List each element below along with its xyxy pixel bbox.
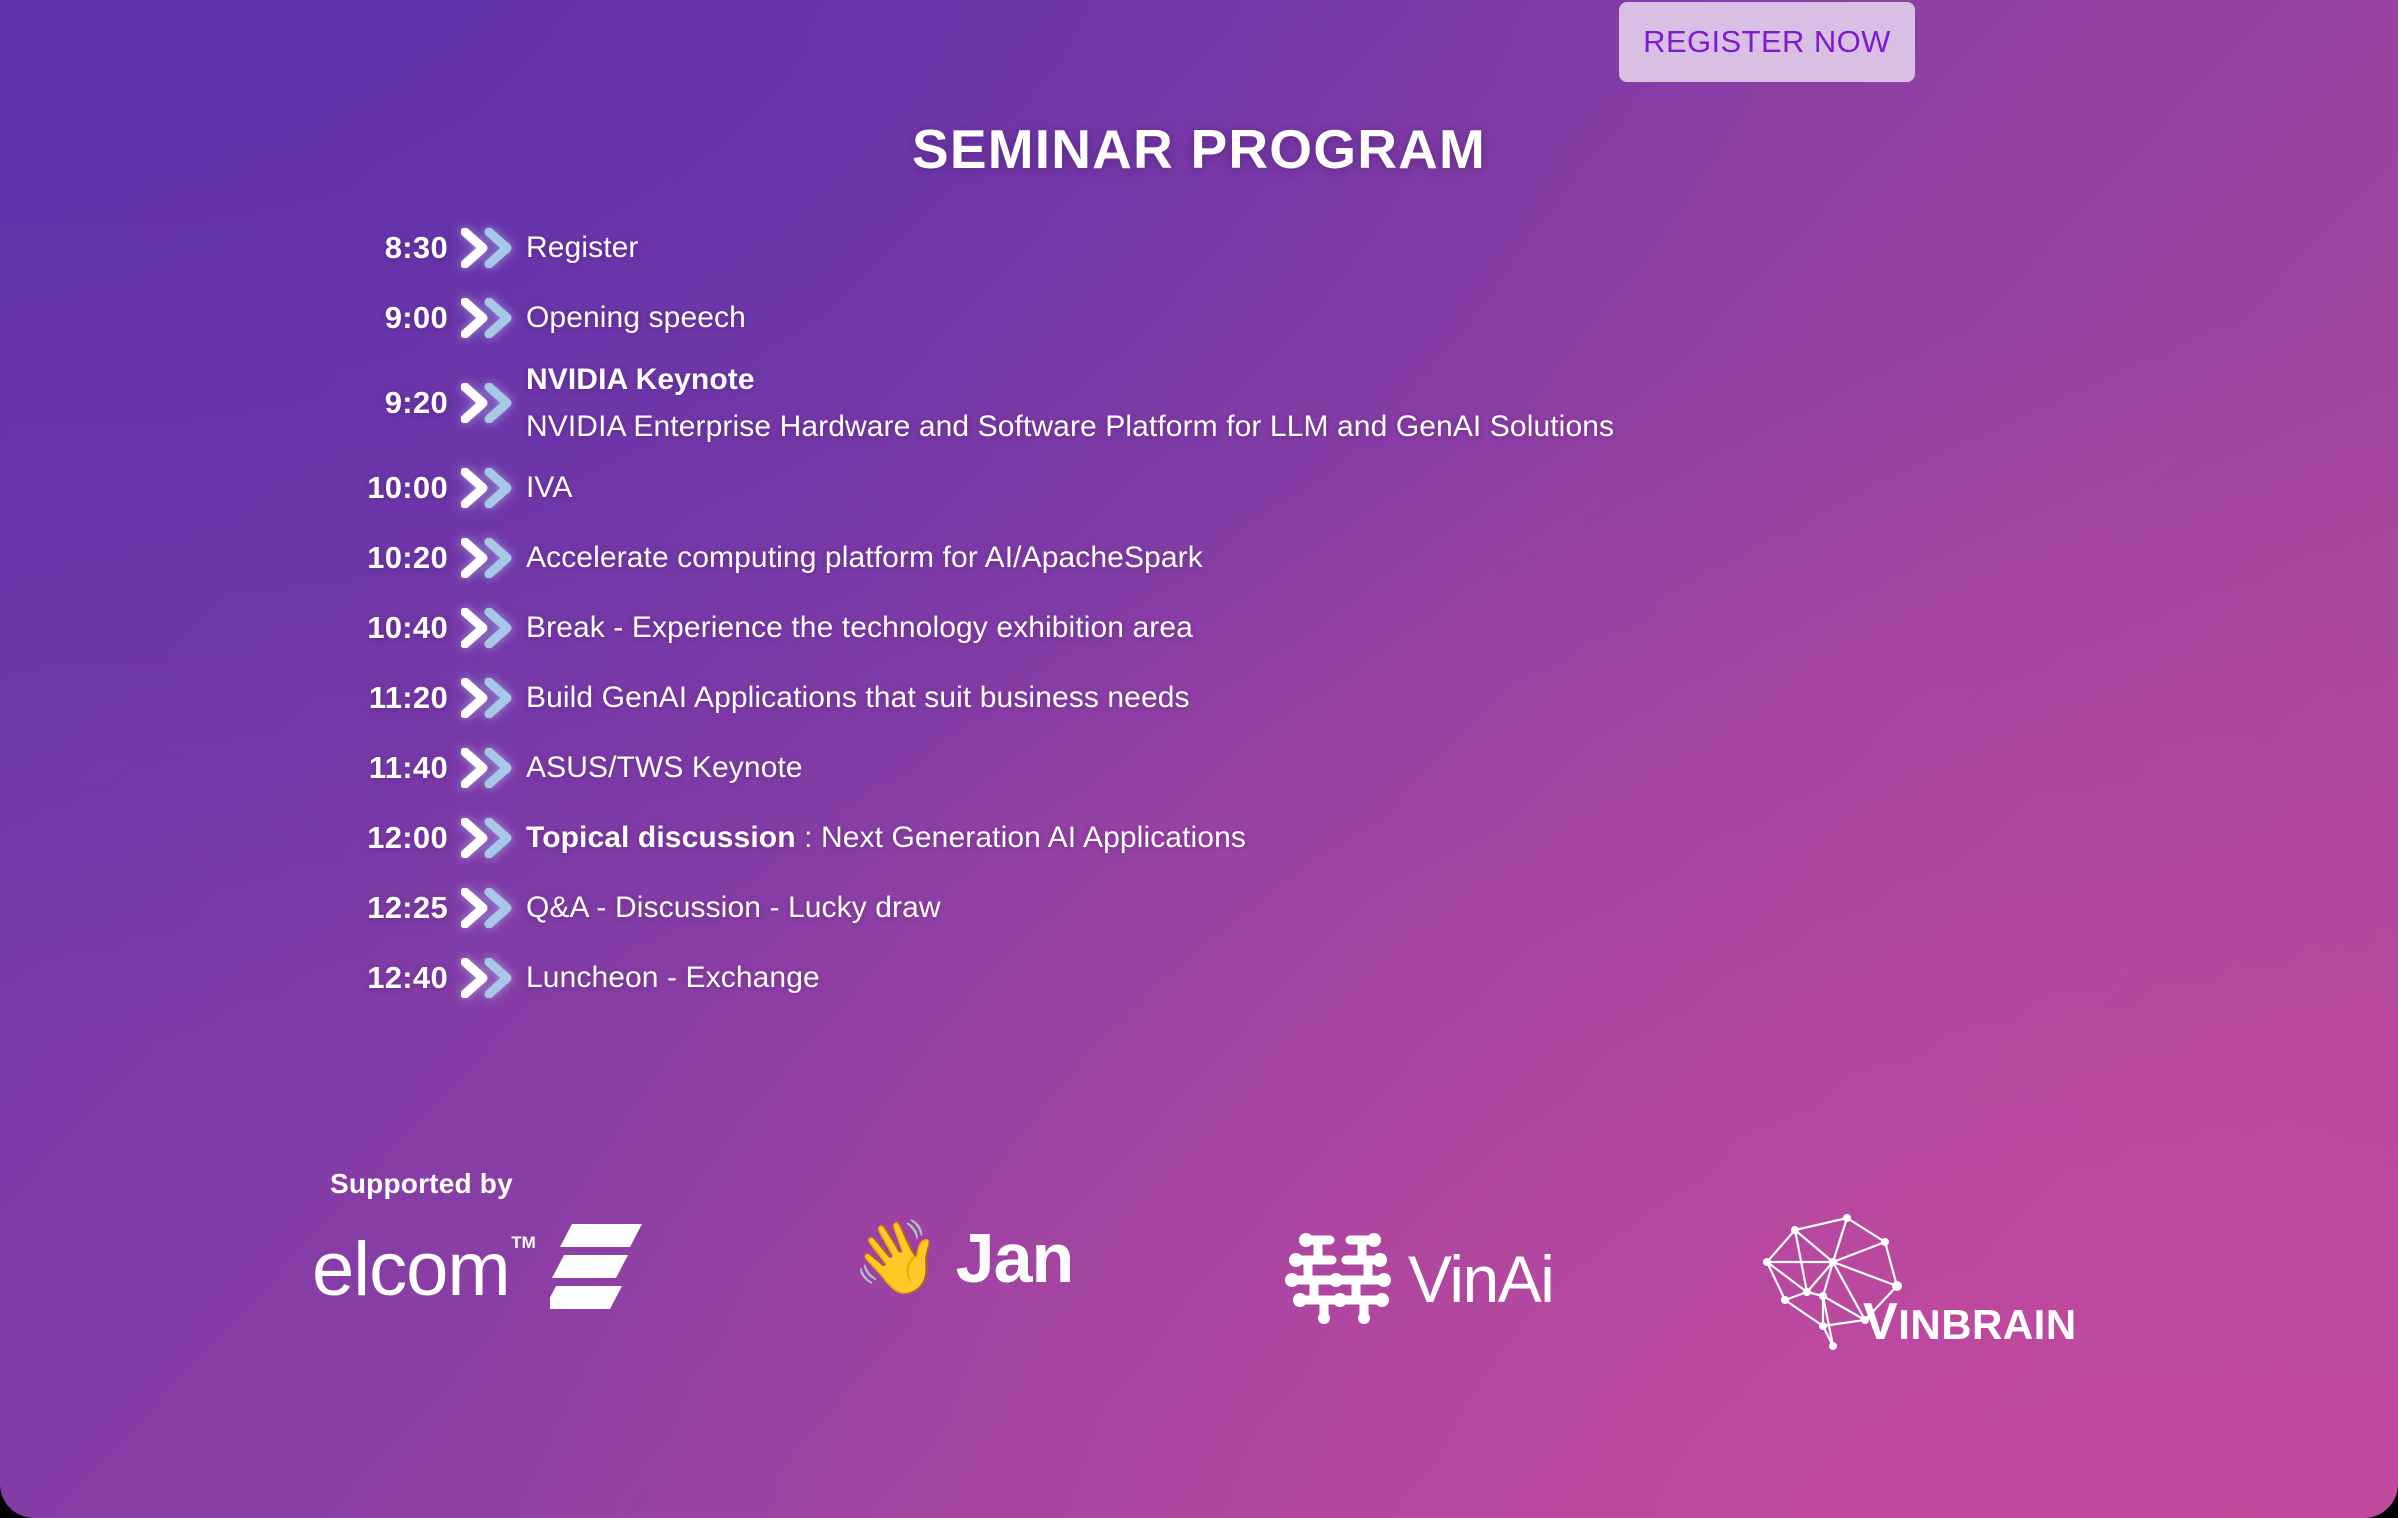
schedule-title: Luncheon - Exchange (526, 961, 820, 994)
logo-jan: 👋 Jan (852, 1222, 1073, 1294)
schedule-description: NVIDIA KeynoteNVIDIA Enterprise Hardware… (526, 360, 1614, 447)
schedule-title: IVA (526, 471, 572, 504)
schedule-title: Opening speech (526, 301, 746, 334)
schedule-row: 10:40 Break - Experience the technology … (330, 593, 2030, 663)
page-title: SEMINAR PROGRAM (0, 117, 2398, 181)
schedule-title: Q&A - Discussion - Lucky draw (526, 891, 941, 924)
double-chevron-icon (448, 538, 526, 578)
elcom-e-mark-icon (550, 1224, 642, 1315)
schedule-subtitle: NVIDIA Enterprise Hardware and Software … (526, 407, 1614, 447)
sponsor-logos: elcom TM 👋 Jan (312, 1216, 2112, 1356)
schedule-row: 12:25 Q&A - Discussion - Lucky draw (330, 873, 2030, 943)
schedule-row: 10:00 IVA (330, 453, 2030, 523)
schedule-row: 9:00 Opening speech (330, 283, 2030, 353)
schedule-title: Break - Experience the technology exhibi… (526, 611, 1193, 644)
double-chevron-icon (448, 678, 526, 718)
elcom-trademark-symbol: TM (511, 1234, 536, 1251)
schedule-row: 9:20 NVIDIA KeynoteNVIDIA Enterprise Har… (330, 353, 2030, 453)
supported-by-label: Supported by (330, 1168, 513, 1200)
schedule-description: IVA (526, 468, 572, 508)
schedule-time: 10:40 (330, 610, 448, 646)
double-chevron-icon (448, 748, 526, 788)
double-chevron-icon (448, 298, 526, 338)
schedule-row: 11:20 Build GenAI Applications that suit… (330, 663, 2030, 733)
schedule-title: ASUS/TWS Keynote (526, 751, 803, 784)
schedule-row: 12:00 Topical discussion : Next Generati… (330, 803, 2030, 873)
vinbrain-wordmark: VINBRAIN (1863, 1296, 2077, 1348)
schedule-description: Luncheon - Exchange (526, 958, 820, 998)
double-chevron-icon (448, 383, 526, 423)
schedule-title: Topical discussion (526, 821, 796, 854)
schedule-row: 8:30 Register (330, 213, 2030, 283)
schedule-description: Topical discussion : Next Generation AI … (526, 818, 1246, 858)
schedule-time: 10:20 (330, 540, 448, 576)
schedule-time: 12:40 (330, 960, 448, 996)
seminar-program-slide: REGISTER NOW SEMINAR PROGRAM 8:30 Regist… (0, 0, 2398, 1518)
schedule-title: NVIDIA Keynote (526, 363, 755, 396)
schedule-time: 9:00 (330, 300, 448, 336)
logo-vinbrain: VINBRAIN (1737, 1200, 2077, 1350)
schedule-row: 12:40 Luncheon - Exchange (330, 943, 2030, 1013)
schedule-time: 12:00 (330, 820, 448, 856)
double-chevron-icon (448, 958, 526, 998)
double-chevron-icon (448, 228, 526, 268)
vinai-wordmark: VinAi (1408, 1246, 1553, 1312)
elcom-word-text: elcom (312, 1227, 510, 1312)
schedule-title: Accelerate computing platform for AI/Apa… (526, 541, 1203, 574)
logo-elcom: elcom TM (312, 1224, 642, 1315)
logo-vinai: VinAi (1284, 1226, 1553, 1331)
schedule-time: 8:30 (330, 230, 448, 266)
schedule-description: Break - Experience the technology exhibi… (526, 608, 1193, 648)
schedule-title: Register (526, 231, 639, 264)
register-now-button[interactable]: REGISTER NOW (1619, 2, 1915, 82)
vinai-circuit-mark-icon (1284, 1226, 1394, 1331)
double-chevron-icon (448, 888, 526, 928)
schedule-description: Build GenAI Applications that suit busin… (526, 678, 1190, 718)
schedule-description: Q&A - Discussion - Lucky draw (526, 888, 941, 928)
schedule-time: 9:20 (330, 385, 448, 421)
schedule-title: Build GenAI Applications that suit busin… (526, 681, 1190, 714)
double-chevron-icon (448, 468, 526, 508)
schedule-time: 10:00 (330, 470, 448, 506)
vinbrain-word-rest: INBRAIN (1898, 1301, 2077, 1348)
elcom-wordmark: elcom TM (312, 1232, 510, 1308)
double-chevron-icon (448, 608, 526, 648)
schedule-time: 11:40 (330, 750, 448, 786)
schedule-description: Opening speech (526, 298, 746, 338)
double-chevron-icon (448, 818, 526, 858)
schedule-description: ASUS/TWS Keynote (526, 748, 803, 788)
schedule-time: 12:25 (330, 890, 448, 926)
jan-wordmark: Jan (956, 1223, 1074, 1293)
schedule-row: 11:40 ASUS/TWS Keynote (330, 733, 2030, 803)
schedule-row: 10:20 Accelerate computing platform for … (330, 523, 2030, 593)
vinbrain-word-cap: V (1863, 1293, 1898, 1351)
schedule-description: Register (526, 228, 639, 268)
schedule-description: Accelerate computing platform for AI/Apa… (526, 538, 1203, 578)
schedule-time: 11:20 (330, 680, 448, 716)
seminar-schedule-list: 8:30 Register9:00 Opening speech9:20 NVI… (330, 213, 2030, 1013)
schedule-title-suffix: : Next Generation AI Applications (796, 821, 1246, 854)
waving-hand-icon: 👋 (852, 1222, 942, 1294)
